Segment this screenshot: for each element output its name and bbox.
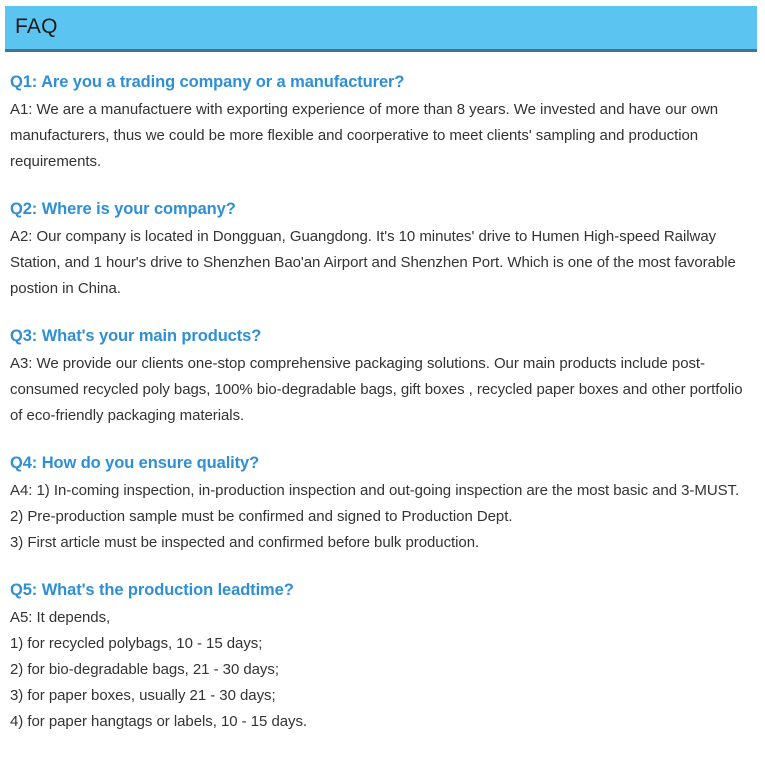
faq-question: Q1: Are you a trading company or a manuf… [10,70,755,94]
faq-list: Q1: Are you a trading company or a manuf… [10,70,755,757]
faq-item: Q5: What's the production leadtime? A5: … [10,578,755,735]
faq-item: Q3: What's your main products? A3: We pr… [10,324,755,429]
faq-answer: A2: Our company is located in Dongguan, … [10,224,755,302]
faq-answer-paragraph: A1: We are a manufactuere with exporting… [10,97,755,175]
faq-answer-line: 4) for paper hangtags or labels, 10 - 15… [10,709,755,735]
faq-answer-line: 3) First article must be inspected and c… [10,530,755,556]
faq-item: Q2: Where is your company? A2: Our compa… [10,197,755,302]
faq-answer: A5: It depends, 1) for recycled polybags… [10,605,755,735]
faq-header-bar: FAQ [5,6,757,52]
faq-question: Q5: What's the production leadtime? [10,578,755,602]
faq-answer-line: 2) for bio-degradable bags, 21 - 30 days… [10,657,755,683]
faq-answer: A1: We are a manufactuere with exporting… [10,97,755,175]
faq-question: Q4: How do you ensure quality? [10,451,755,475]
faq-answer-line: 2) Pre-production sample must be confirm… [10,504,755,530]
faq-answer-line: 3) for paper boxes, usually 21 - 30 days… [10,683,755,709]
faq-item: Q4: How do you ensure quality? A4: 1) In… [10,451,755,556]
faq-page: FAQ Q1: Are you a trading company or a m… [0,0,765,748]
faq-question: Q3: What's your main products? [10,324,755,348]
faq-answer-paragraph: A2: Our company is located in Dongguan, … [10,224,755,302]
faq-answer-paragraph: A3: We provide our clients one-stop comp… [10,351,755,429]
faq-answer-line: A5: It depends, [10,605,755,631]
faq-answer: A4: 1) In-coming inspection, in-producti… [10,478,755,556]
faq-answer-paragraph: A4: 1) In-coming inspection, in-producti… [10,478,755,504]
faq-header-title: FAQ [15,14,58,40]
faq-item: Q1: Are you a trading company or a manuf… [10,70,755,175]
faq-question: Q2: Where is your company? [10,197,755,221]
faq-answer: A3: We provide our clients one-stop comp… [10,351,755,429]
faq-answer-line: 1) for recycled polybags, 10 - 15 days; [10,631,755,657]
